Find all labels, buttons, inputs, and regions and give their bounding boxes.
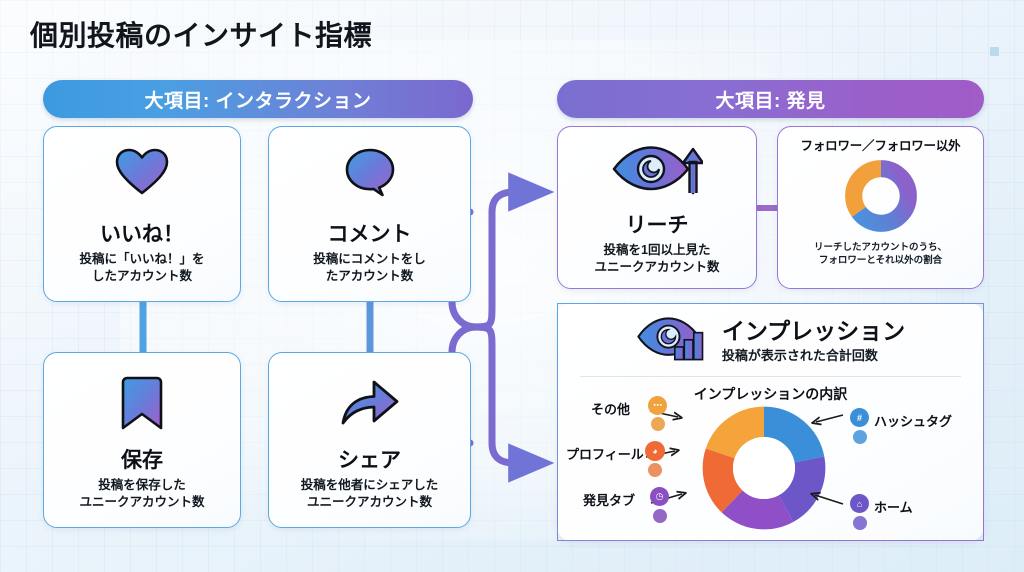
- card-title: コメント: [269, 218, 470, 248]
- card-desc: 投稿にコメントをし たアカウント数: [269, 251, 470, 285]
- metric-card-share[interactable]: シェア 投稿を他者にシェアした ユニークアカウント数: [268, 352, 471, 528]
- metric-card-like[interactable]: いいね！ 投稿に「いいね！」を したアカウント数: [43, 126, 241, 302]
- card-desc-line2: したアカウント数: [44, 268, 240, 285]
- card-desc: 投稿に「いいね！」を したアカウント数: [44, 251, 240, 285]
- card-desc-line1: 投稿に「いいね！」を: [44, 251, 240, 268]
- explore-chip-icon: ◷: [650, 487, 669, 506]
- home-chip-small-icon: [853, 516, 867, 530]
- metric-card-impression[interactable]: インプレッション 投稿が表示された合計回数 インプレッションの内訳: [557, 303, 984, 541]
- home-chip-icon: ⌂: [850, 494, 869, 513]
- other-chip-icon: ⋯: [648, 396, 667, 415]
- card-title: いいね！: [44, 218, 240, 248]
- other-chip-small-icon: [651, 417, 665, 431]
- follower-split-donut: [778, 157, 983, 235]
- follower-split-title: フォロワー／フォロワー以外: [778, 135, 983, 154]
- breakdown-label-hashtag: ハッシュタグ: [874, 411, 952, 430]
- card-desc-line1: 投稿を保存した: [44, 477, 240, 494]
- hashtag-chip-icon: #: [850, 408, 869, 427]
- card-desc-line2: ユニークアカウント数: [558, 259, 756, 276]
- breakdown-label-other: その他: [591, 399, 630, 418]
- card-desc-line2: たアカウント数: [269, 268, 470, 285]
- decor-square: [990, 47, 999, 56]
- heart-icon: [44, 127, 240, 197]
- comment-icon: [269, 127, 470, 197]
- follower-split-desc-line1: リーチしたアカウントのうち、: [778, 242, 983, 255]
- card-desc-line1: 投稿を他者にシェアした: [269, 477, 470, 494]
- card-desc-line2: ユニークアカウント数: [269, 494, 470, 511]
- card-title: 保存: [44, 444, 240, 474]
- explore-chip-small-icon: [653, 509, 667, 523]
- follower-split-desc: リーチしたアカウントのうち、 フォロワーとそれ以外の割合: [778, 242, 983, 268]
- section-header-interaction: 大項目: インタラクション: [43, 80, 473, 118]
- breakdown-label-home: ホーム: [874, 497, 913, 516]
- hashtag-chip-small-icon: [853, 430, 867, 444]
- breakdown-label-explore: 発見タブ: [583, 490, 635, 509]
- follower-split-desc-line2: フォロワーとそれ以外の割合: [778, 255, 983, 268]
- profile-chip-small-icon: [648, 463, 662, 477]
- profile-chip-icon: ◕: [645, 441, 665, 461]
- bookmark-icon: [44, 353, 240, 431]
- metric-card-comment[interactable]: コメント 投稿にコメントをし たアカウント数: [268, 126, 471, 302]
- share-icon: [269, 353, 470, 427]
- card-desc: 投稿を保存した ユニークアカウント数: [44, 477, 240, 511]
- card-desc: 投稿を他者にシェアした ユニークアカウント数: [269, 477, 470, 511]
- section-header-discovery: 大項目: 発見: [557, 80, 984, 118]
- metric-card-follower-split[interactable]: フォロワー／フォロワー以外 リーチしたアカウントのうち、 フォロワーとそれ以外の…: [777, 126, 984, 289]
- section-header-interaction-label: 大項目: インタラクション: [144, 86, 371, 113]
- metric-card-reach[interactable]: リーチ 投稿を1回以上見た ユニークアカウント数: [557, 126, 757, 289]
- card-desc-line2: ユニークアカウント数: [44, 494, 240, 511]
- breakdown-label-profile: プロフィール: [566, 444, 644, 463]
- page-title: 個別投稿のインサイト指標: [30, 14, 372, 54]
- section-header-discovery-label: 大項目: 発見: [715, 86, 825, 113]
- card-desc: 投稿を1回以上見た ユニークアカウント数: [558, 242, 756, 276]
- card-desc-line1: 投稿を1回以上見た: [558, 242, 756, 259]
- metric-card-save[interactable]: 保存 投稿を保存した ユニークアカウント数: [43, 352, 241, 528]
- card-title: リーチ: [558, 209, 756, 239]
- card-title: シェア: [269, 444, 470, 474]
- card-desc-line1: 投稿にコメントをし: [269, 251, 470, 268]
- eye-arrow-icon: [558, 127, 756, 195]
